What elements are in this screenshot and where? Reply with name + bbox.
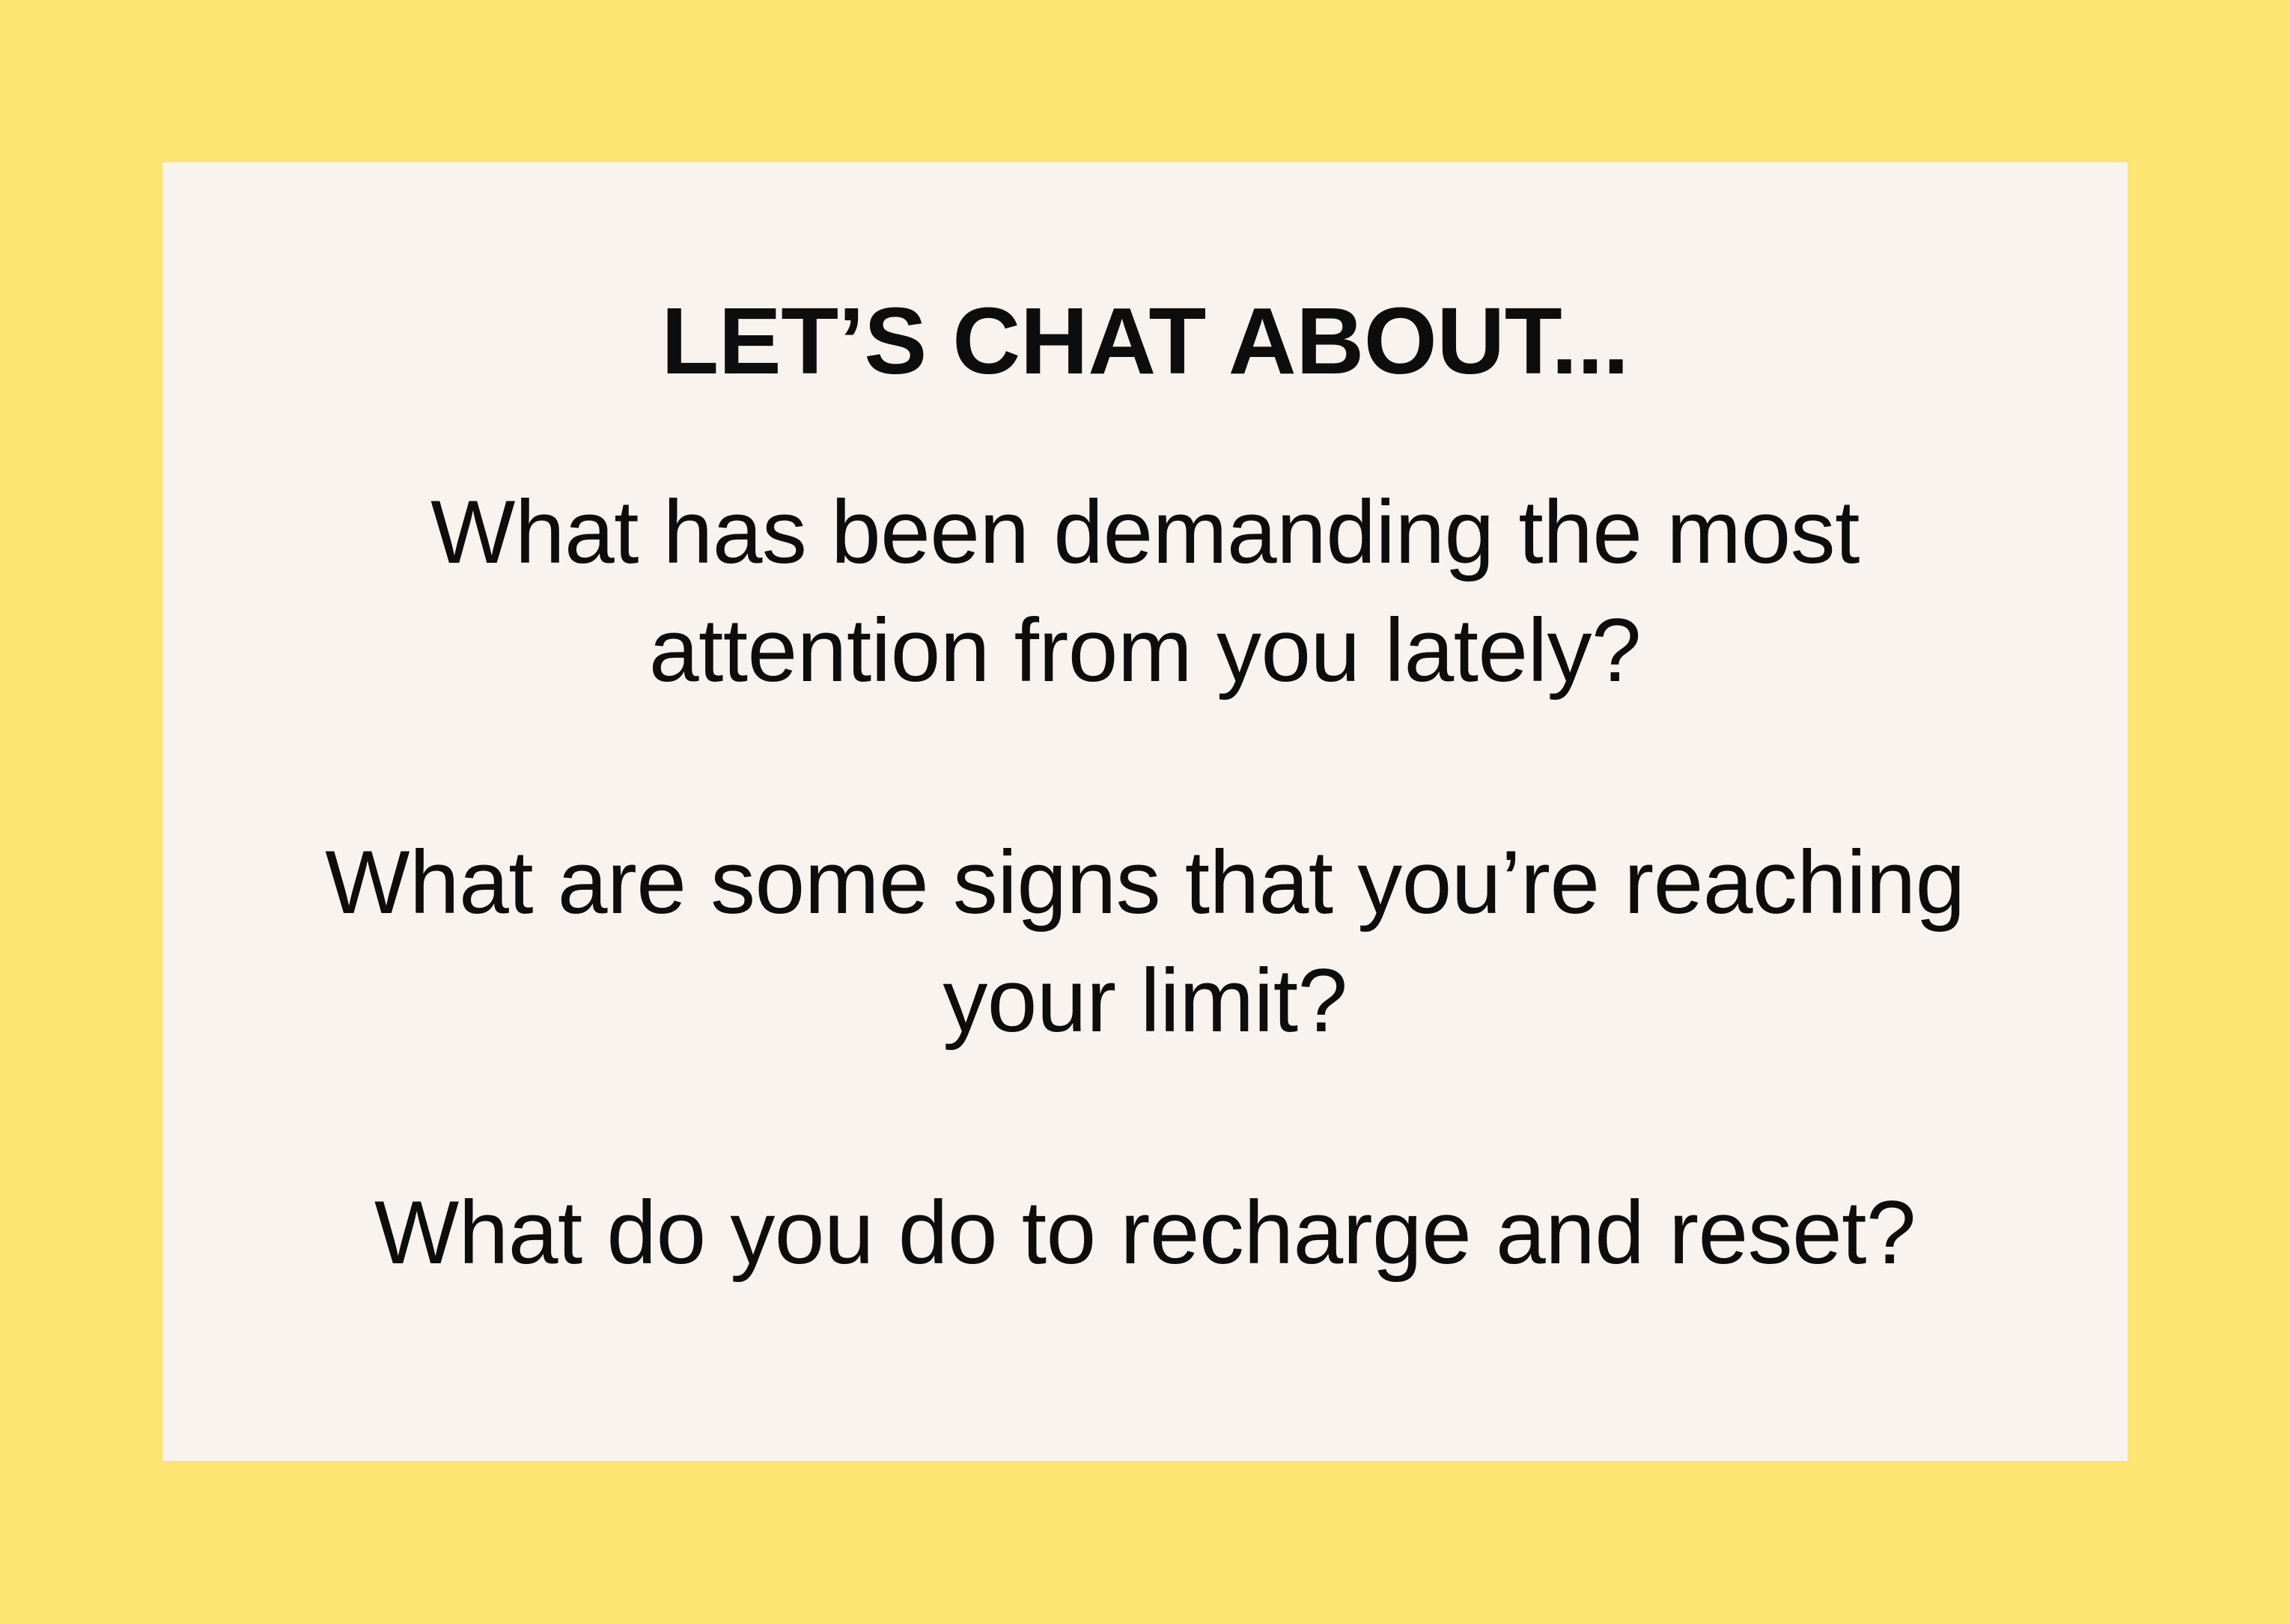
- prompt-list: What has been demanding the most attenti…: [252, 473, 2038, 1292]
- page-title: LET’S CHAT ABOUT...: [252, 162, 2038, 388]
- prompt-demanding-attention: What has been demanding the most attenti…: [252, 473, 2038, 709]
- prompt-recharge-reset: What do you do to recharge and reset?: [252, 1173, 2038, 1292]
- card-inner: LET’S CHAT ABOUT... What has been demand…: [162, 162, 2128, 1292]
- prompt-line: What are some signs that you’re reaching: [252, 823, 2038, 941]
- poster-canvas: LET’S CHAT ABOUT... What has been demand…: [0, 0, 2290, 1624]
- prompt-line: What do you do to recharge and reset?: [252, 1173, 2038, 1292]
- prompt-reaching-limit: What are some signs that you’re reaching…: [252, 823, 2038, 1060]
- content-card: LET’S CHAT ABOUT... What has been demand…: [162, 162, 2128, 1461]
- prompt-line: your limit?: [252, 941, 2038, 1060]
- prompt-line: attention from you lately?: [252, 591, 2038, 709]
- prompt-line: What has been demanding the most: [252, 473, 2038, 591]
